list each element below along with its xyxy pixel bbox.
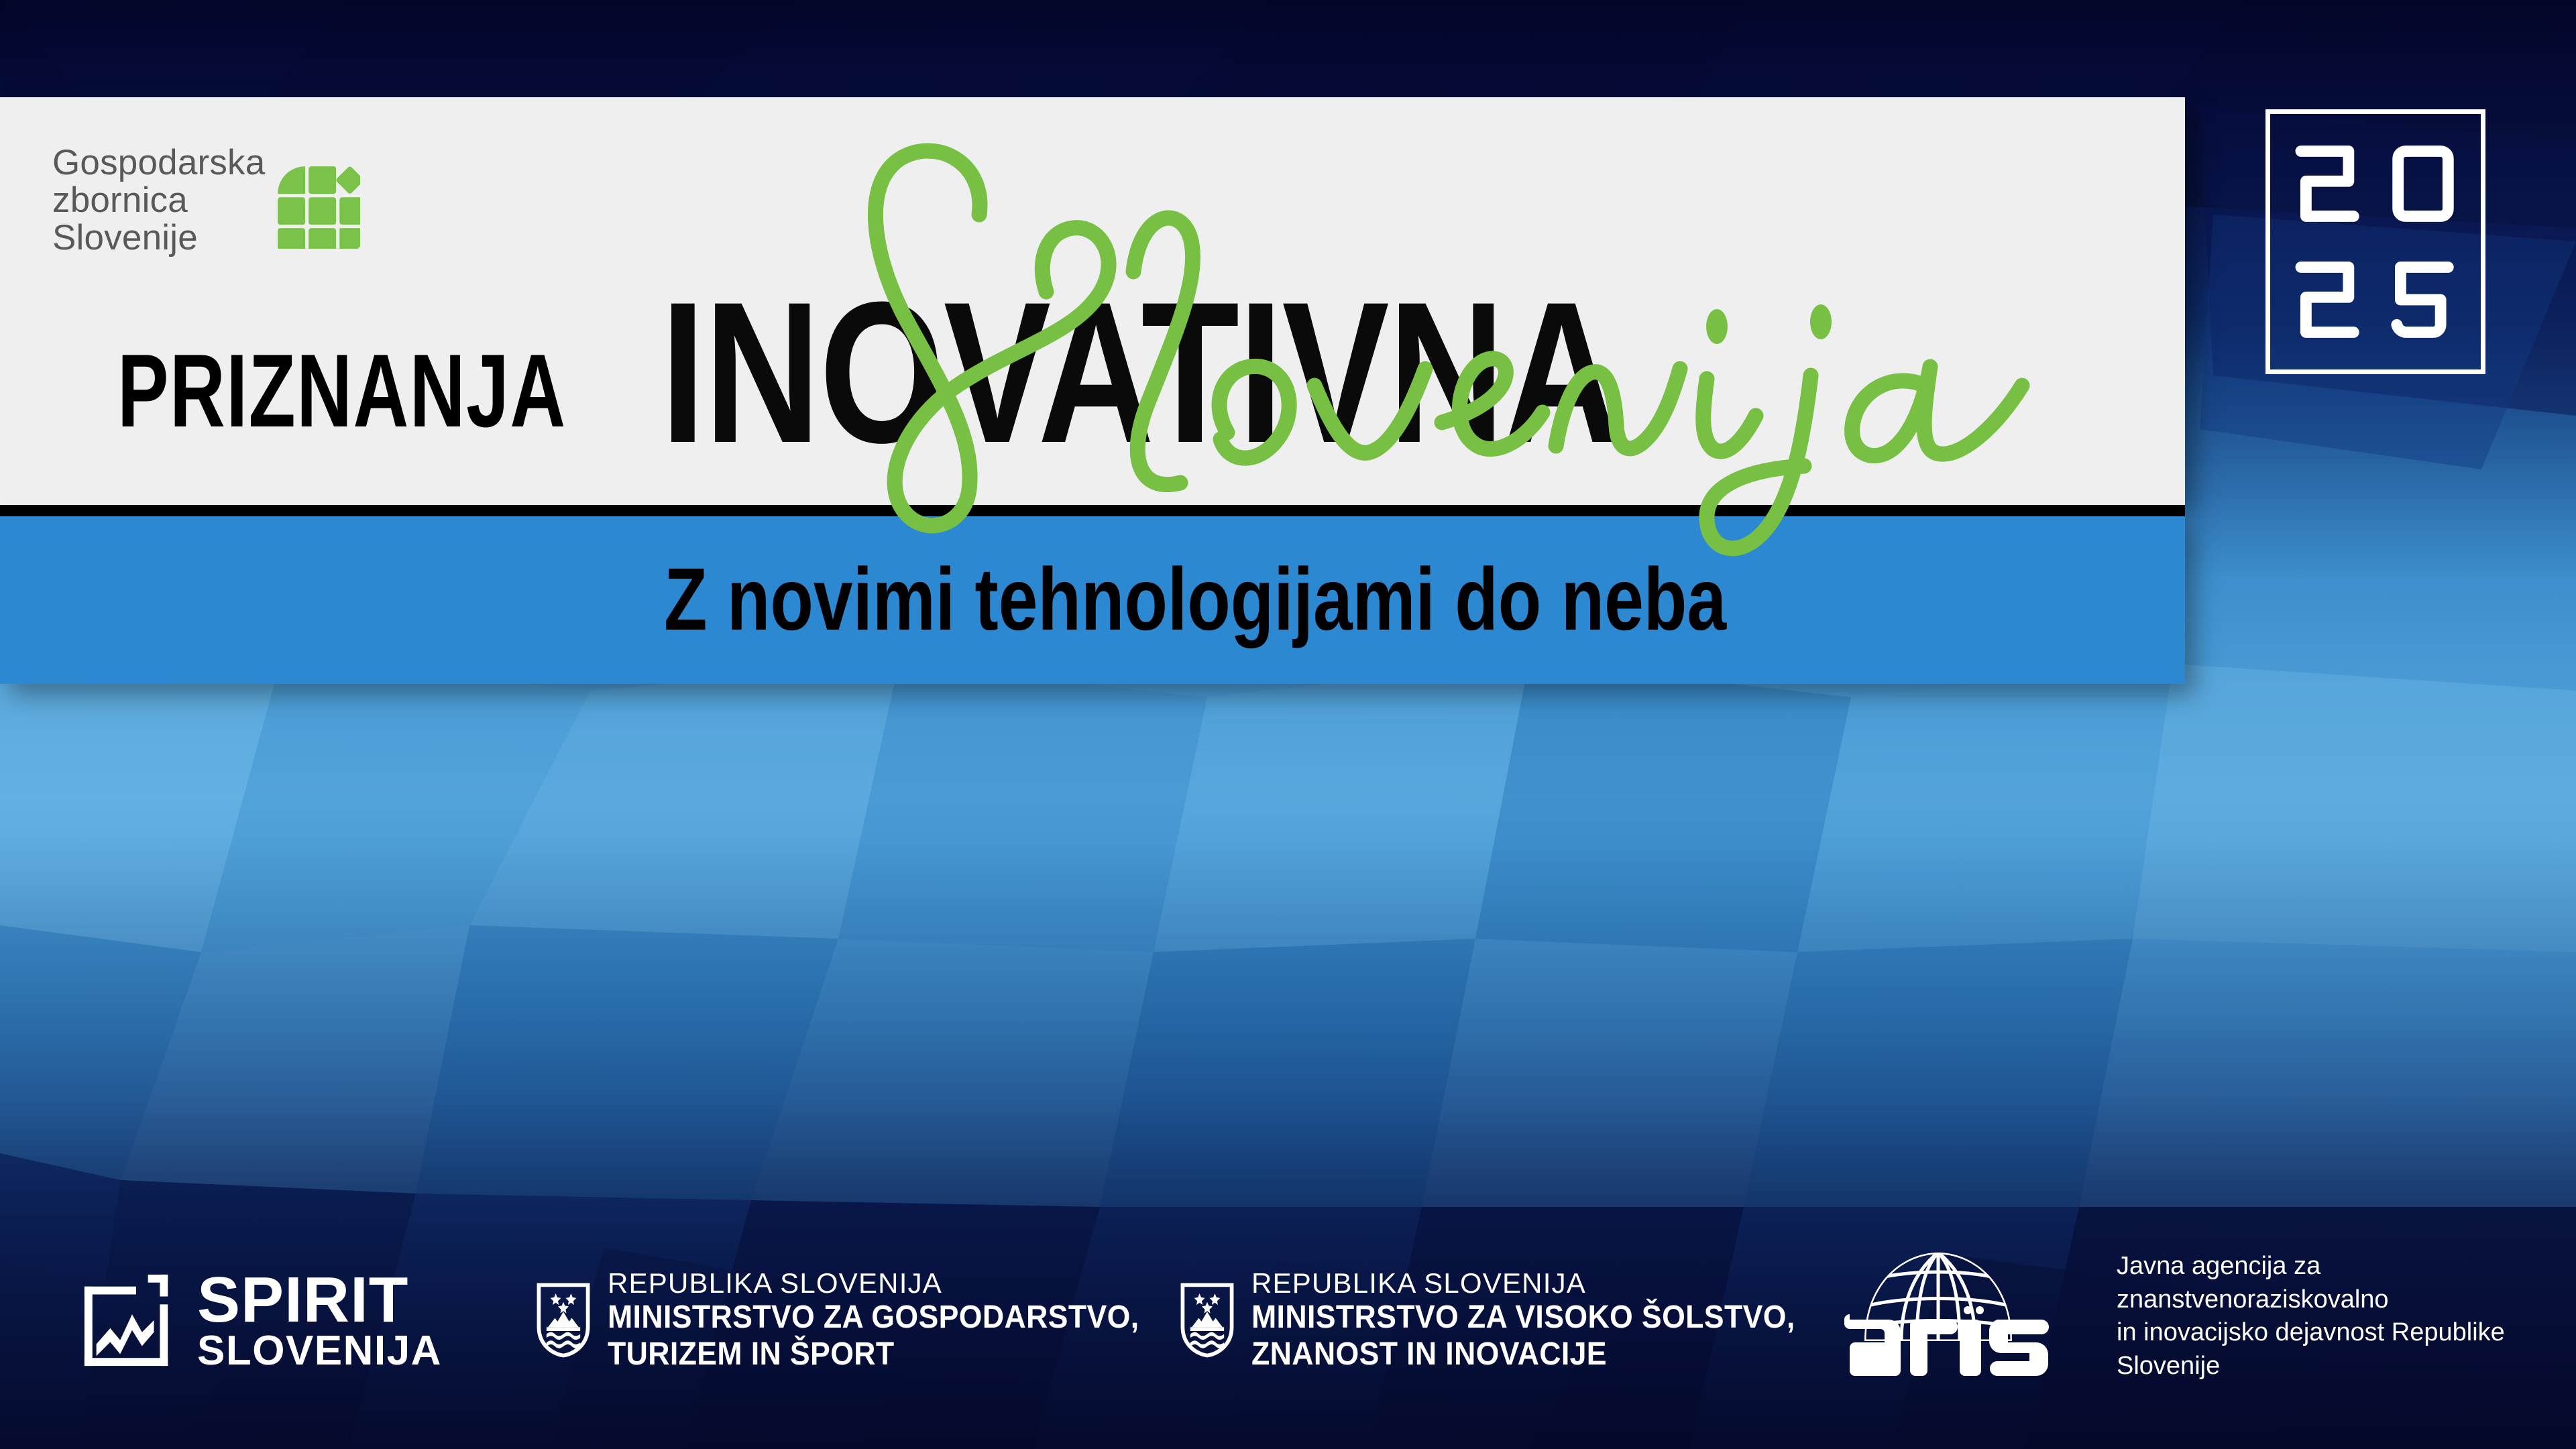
- ministry-text-block: REPUBLIKA SLOVENIJA MINISTRSTVO ZA GOSPO…: [608, 1267, 1179, 1373]
- ministry-name: MINISTRSTVO ZA VISOKO ŠOLSTVO, ZNANOST I…: [1251, 1299, 1795, 1373]
- year-digit-2-b: [2291, 249, 2366, 350]
- year-digit-5: [2386, 249, 2461, 350]
- script-slovenija-overlay: [671, 117, 2213, 533]
- spirit-subtitle: SLOVENIJA: [197, 1331, 442, 1371]
- year-digit-2-a: [2291, 133, 2366, 234]
- ministry-visoko-solstvo-logo: REPUBLIKA SLOVENIJA MINISTRSTVO ZA VISOK…: [1180, 1267, 1836, 1373]
- poster-canvas: Gospodarska zbornica Slovenije PRIZNANJA…: [0, 0, 2576, 1449]
- ministry-gospodarstvo-logo: REPUBLIKA SLOVENIJA MINISTRSTVO ZA GOSPO…: [537, 1267, 1179, 1373]
- ministry-country: REPUBLIKA SLOVENIJA: [608, 1267, 1179, 1299]
- ministry-text-block: REPUBLIKA SLOVENIJA MINISTRSTVO ZA VISOK…: [1251, 1267, 1836, 1373]
- year-digit-0: [2386, 133, 2461, 234]
- gzs-wordmark: Gospodarska zbornica Slovenije: [52, 144, 265, 257]
- slovenia-coat-of-arms-icon: [1180, 1283, 1234, 1358]
- slovenia-coat-of-arms-icon: [537, 1283, 590, 1358]
- aris-logo: Javna agencija za znanstvenoraziskovalno…: [1838, 1240, 2576, 1395]
- aris-wordmark-with-globe-icon: [1838, 1240, 2099, 1395]
- subtitle-text: Z novimi tehnologijami do neba: [664, 555, 1726, 644]
- ministry-name: MINISTRSTVO ZA GOSPODARSTVO, TURIZEM IN …: [608, 1299, 1139, 1373]
- ministry-country: REPUBLIKA SLOVENIJA: [1251, 1267, 1836, 1299]
- year-badge-2025: [2265, 109, 2485, 374]
- spirit-slovenija-logo: SPIRIT SLOVENIJA: [80, 1269, 442, 1371]
- gzs-logo: Gospodarska zbornica Slovenije: [52, 144, 360, 257]
- aris-description: Javna agencija za znanstvenoraziskovalno…: [2117, 1250, 2576, 1395]
- chart-frame-icon: [80, 1271, 180, 1370]
- gzs-grid-mark-icon: [274, 163, 360, 249]
- spirit-wordmark: SPIRIT SLOVENIJA: [197, 1269, 442, 1371]
- award-word: PRIZNANJA: [117, 339, 567, 443]
- spirit-name: SPIRIT: [197, 1269, 442, 1331]
